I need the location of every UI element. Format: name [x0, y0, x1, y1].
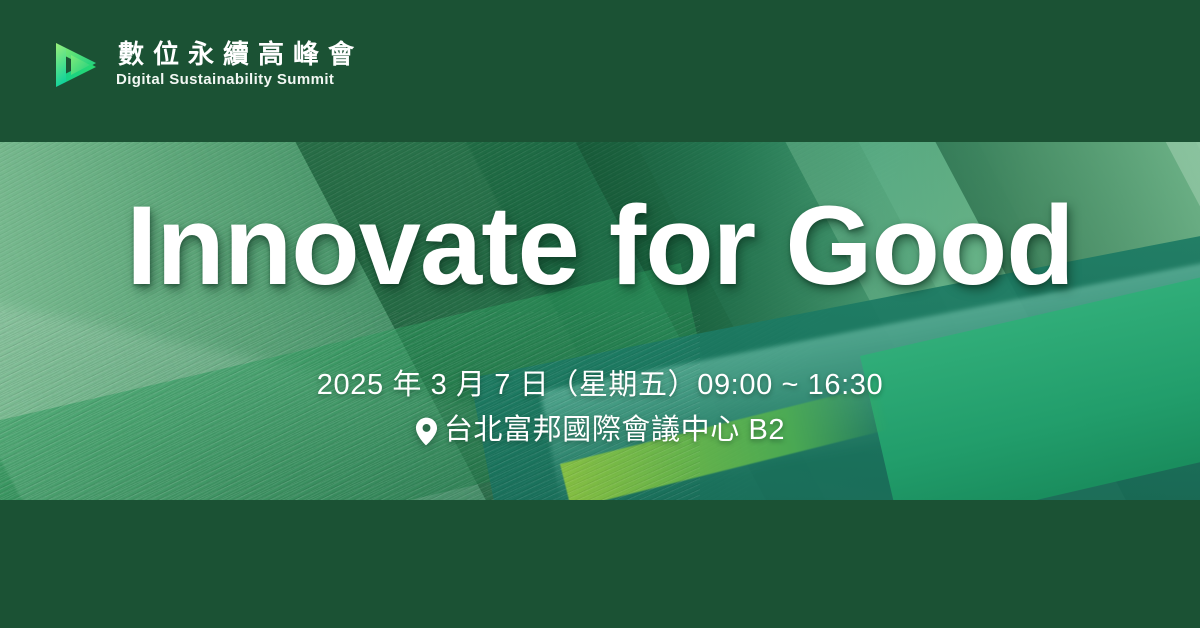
- brand-wordmark: 數位永續高峰會 Digital Sustainability Summit: [116, 41, 363, 88]
- header-bar: 數位永續高峰會 Digital Sustainability Summit: [0, 0, 1200, 142]
- map-pin-icon: [415, 417, 438, 446]
- footer-bar: [0, 500, 1200, 628]
- event-venue: 台北富邦國際會議中心 B2: [0, 412, 1200, 450]
- brand-logo[interactable]: 數位永續高峰會 Digital Sustainability Summit: [48, 38, 363, 92]
- event-details: 2025 年 3 月 7 日（星期五）09:00 ~ 16:30 台北富邦國際會…: [0, 366, 1200, 450]
- play-triangle-logo-icon: [48, 38, 102, 92]
- event-banner: 數位永續高峰會 Digital Sustainability Summit In…: [0, 0, 1200, 628]
- brand-name-cn: 數位永續高峰會: [116, 41, 363, 69]
- brand-name-en: Digital Sustainability Summit: [116, 72, 363, 89]
- hero-banner: Innovate for Good 2025 年 3 月 7 日（星期五）09:…: [0, 142, 1200, 500]
- event-venue-label: 台北富邦國際會議中心 B2: [444, 412, 785, 450]
- event-datetime: 2025 年 3 月 7 日（星期五）09:00 ~ 16:30: [0, 366, 1200, 404]
- hero-headline: Innovate for Good: [0, 190, 1200, 302]
